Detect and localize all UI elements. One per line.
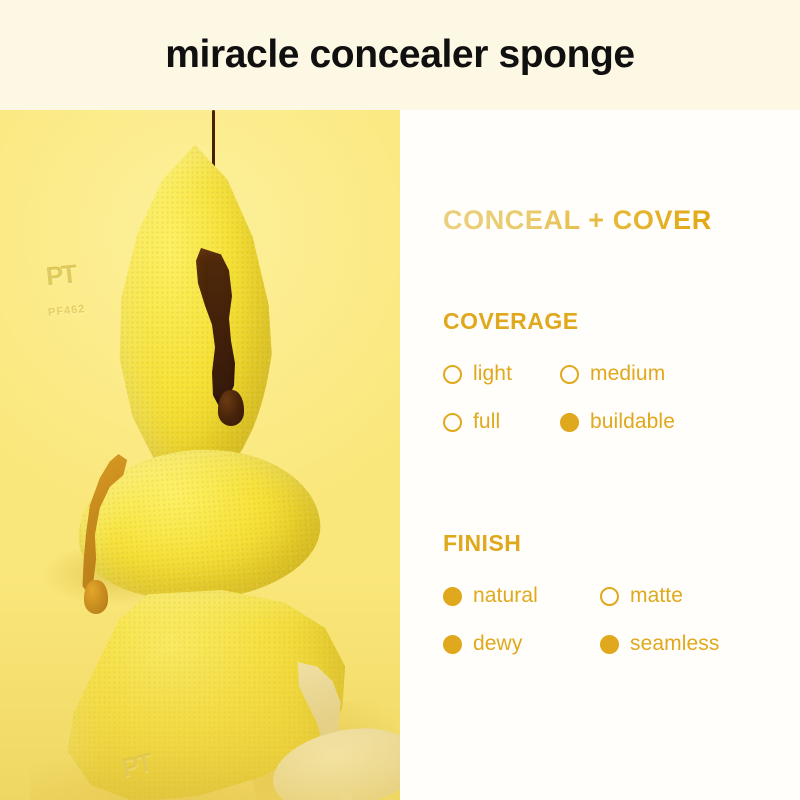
option-dewy[interactable]: dewy <box>443 632 600 656</box>
option-matte[interactable]: matte <box>600 584 683 608</box>
page-title: miracle concealer sponge <box>165 33 634 77</box>
option-label: medium <box>590 362 665 386</box>
headline: CONCEAL + COVER <box>443 205 712 236</box>
option-label: natural <box>473 584 538 608</box>
sponge-code-emboss: PF462 <box>47 303 85 319</box>
radio-unselected-icon[interactable] <box>443 365 462 384</box>
option-label: matte <box>630 584 683 608</box>
header-band: miracle concealer sponge <box>0 0 800 110</box>
option-seamless[interactable]: seamless <box>600 632 720 656</box>
radio-unselected-icon[interactable] <box>560 365 579 384</box>
finish-row-2: dewy seamless <box>443 631 720 657</box>
caramel-concealer-bead <box>84 580 108 614</box>
option-label: full <box>473 410 500 434</box>
section-coverage: COVERAGE light medium full bui <box>443 308 675 457</box>
radio-selected-icon[interactable] <box>560 413 579 432</box>
sponge-logo-emboss: PT <box>44 259 76 293</box>
section-title-finish: FINISH <box>443 530 720 557</box>
dark-concealer-bead <box>218 390 244 426</box>
option-label: light <box>473 362 512 386</box>
option-label: dewy <box>473 632 522 656</box>
section-title-coverage: COVERAGE <box>443 308 675 335</box>
radio-selected-icon[interactable] <box>600 635 619 654</box>
sponge-pointed-teardrop <box>115 145 275 485</box>
option-buildable[interactable]: buildable <box>560 410 675 434</box>
coverage-row-1: light medium <box>443 361 675 387</box>
sponge-texture <box>115 145 275 485</box>
option-medium[interactable]: medium <box>560 362 665 386</box>
section-finish: FINISH natural matte dewy seam <box>443 530 720 679</box>
radio-selected-icon[interactable] <box>443 587 462 606</box>
radio-unselected-icon[interactable] <box>600 587 619 606</box>
option-label: seamless <box>630 632 720 656</box>
radio-unselected-icon[interactable] <box>443 413 462 432</box>
coverage-row-2: full buildable <box>443 409 675 435</box>
info-panel: CONCEAL + COVER COVERAGE light medium fu… <box>400 110 800 800</box>
product-infographic: miracle concealer sponge PT PF462 PT <box>0 0 800 800</box>
finish-row-1: natural matte <box>443 583 720 609</box>
radio-selected-icon[interactable] <box>443 635 462 654</box>
product-photo: PT PF462 PT <box>0 110 400 800</box>
option-natural[interactable]: natural <box>443 584 600 608</box>
option-label: buildable <box>590 410 675 434</box>
option-light[interactable]: light <box>443 362 560 386</box>
option-full[interactable]: full <box>443 410 560 434</box>
